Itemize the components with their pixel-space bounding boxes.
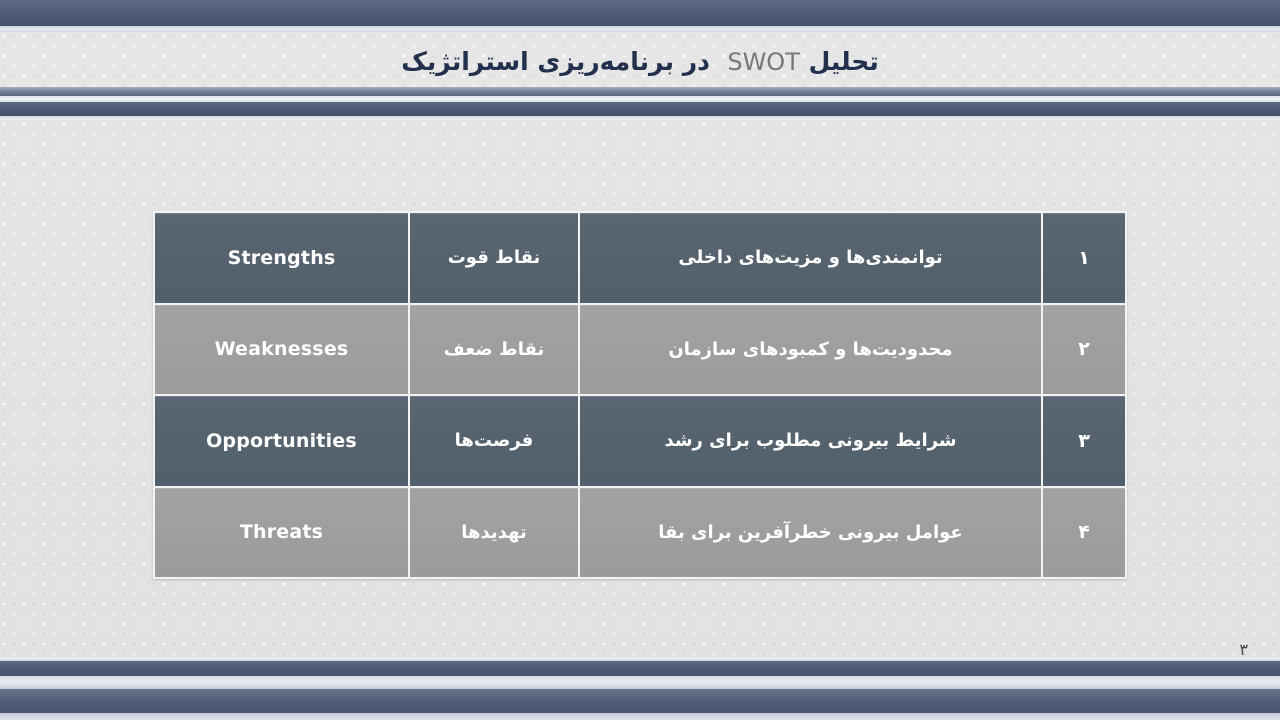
cell-number: ۴ <box>1043 488 1125 578</box>
cell-english-term: Weaknesses <box>155 305 408 395</box>
slide-canvas: تحلیل SWOT در برنامه‌ریزی استراتژیک ۱ تو… <box>0 0 1280 720</box>
table-row[interactable]: ۳ شرایط بیرونی مطلوب برای رشد فرصت‌ها Op… <box>155 396 1125 486</box>
table-row[interactable]: ۲ محدودیت‌ها و کمبودهای سازمان نقاط ضعف … <box>155 305 1125 395</box>
top-band-navy-outer <box>0 0 1280 26</box>
cell-persian-term: نقاط قوت <box>410 213 578 303</box>
table-row[interactable]: ۱ توانمندی‌ها و مزیت‌های داخلی نقاط قوت … <box>155 213 1125 303</box>
top-band-navy-mid <box>0 87 1280 96</box>
cell-persian-term: فرصت‌ها <box>410 396 578 486</box>
cell-persian-term: تهدیدها <box>410 488 578 578</box>
cell-description: محدودیت‌ها و کمبودهای سازمان <box>580 305 1041 395</box>
bottom-band-highlight-2 <box>0 676 1280 689</box>
cell-english-term: Threats <box>155 488 408 578</box>
title-band-background <box>0 32 1280 87</box>
bottom-band-navy-inner <box>0 661 1280 676</box>
bottom-band-navy-outer <box>0 689 1280 713</box>
table-row[interactable]: ۴ عوامل بیرونی خطرآفرین برای بقا تهدیدها… <box>155 488 1125 578</box>
top-band-highlight-3 <box>0 116 1280 121</box>
cell-number: ۳ <box>1043 396 1125 486</box>
cell-description: توانمندی‌ها و مزیت‌های داخلی <box>580 213 1041 303</box>
top-band-navy-inner <box>0 102 1280 116</box>
cell-number: ۱ <box>1043 213 1125 303</box>
swot-table: ۱ توانمندی‌ها و مزیت‌های داخلی نقاط قوت … <box>153 211 1127 579</box>
bottom-band-highlight-3 <box>0 713 1280 720</box>
cell-number: ۲ <box>1043 305 1125 395</box>
cell-persian-term: نقاط ضعف <box>410 305 578 395</box>
cell-description: شرایط بیرونی مطلوب برای رشد <box>580 396 1041 486</box>
cell-english-term: Strengths <box>155 213 408 303</box>
cell-description: عوامل بیرونی خطرآفرین برای بقا <box>580 488 1041 578</box>
cell-english-term: Opportunities <box>155 396 408 486</box>
